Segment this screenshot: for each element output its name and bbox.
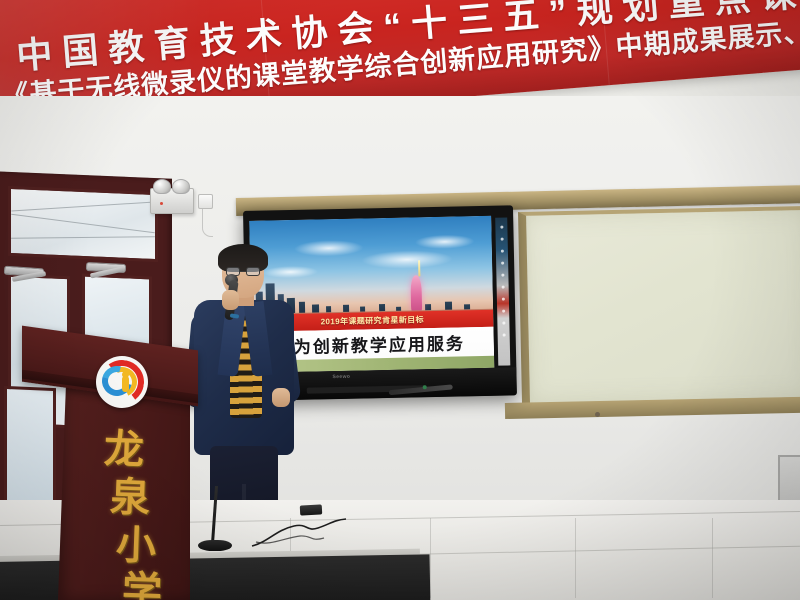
emergency-light [150, 188, 194, 214]
school-crest-icon [96, 356, 148, 408]
lectern-school-char-4: 学 [121, 571, 162, 600]
emergency-light-led-icon [160, 202, 163, 205]
panel-brand-label: Seewo [332, 374, 350, 380]
lectern-school-char-1: 龙 [103, 429, 144, 470]
power-led-icon [423, 385, 427, 389]
whiteboard [518, 206, 800, 408]
photo-scene: 中国教育技术协会“十三五”规划重点课 《基于无线微录仪的课堂教学综合创新应用研究… [0, 0, 800, 600]
slide-red-band-text: 2019年课题研究肯星新目标 [321, 314, 425, 327]
crest-figure-head [122, 371, 129, 378]
board-screw [595, 412, 600, 417]
presenter-hand-right [272, 388, 290, 407]
emergency-lamp-left-icon [153, 179, 171, 194]
microphone-stand-base [198, 540, 232, 551]
presenter-hand-holding-mic [222, 290, 239, 310]
socket-cord [202, 209, 213, 237]
wall-socket[interactable] [198, 194, 213, 209]
lectern-school-char-2: 泉 [109, 477, 150, 518]
emergency-lamp-right-icon [172, 179, 190, 194]
lectern-school-char-3: 小 [115, 525, 156, 566]
cable-connector-box [300, 504, 322, 515]
floor-cable [250, 512, 370, 552]
door-transom-window [8, 186, 158, 262]
crest-figure-body [122, 376, 129, 392]
